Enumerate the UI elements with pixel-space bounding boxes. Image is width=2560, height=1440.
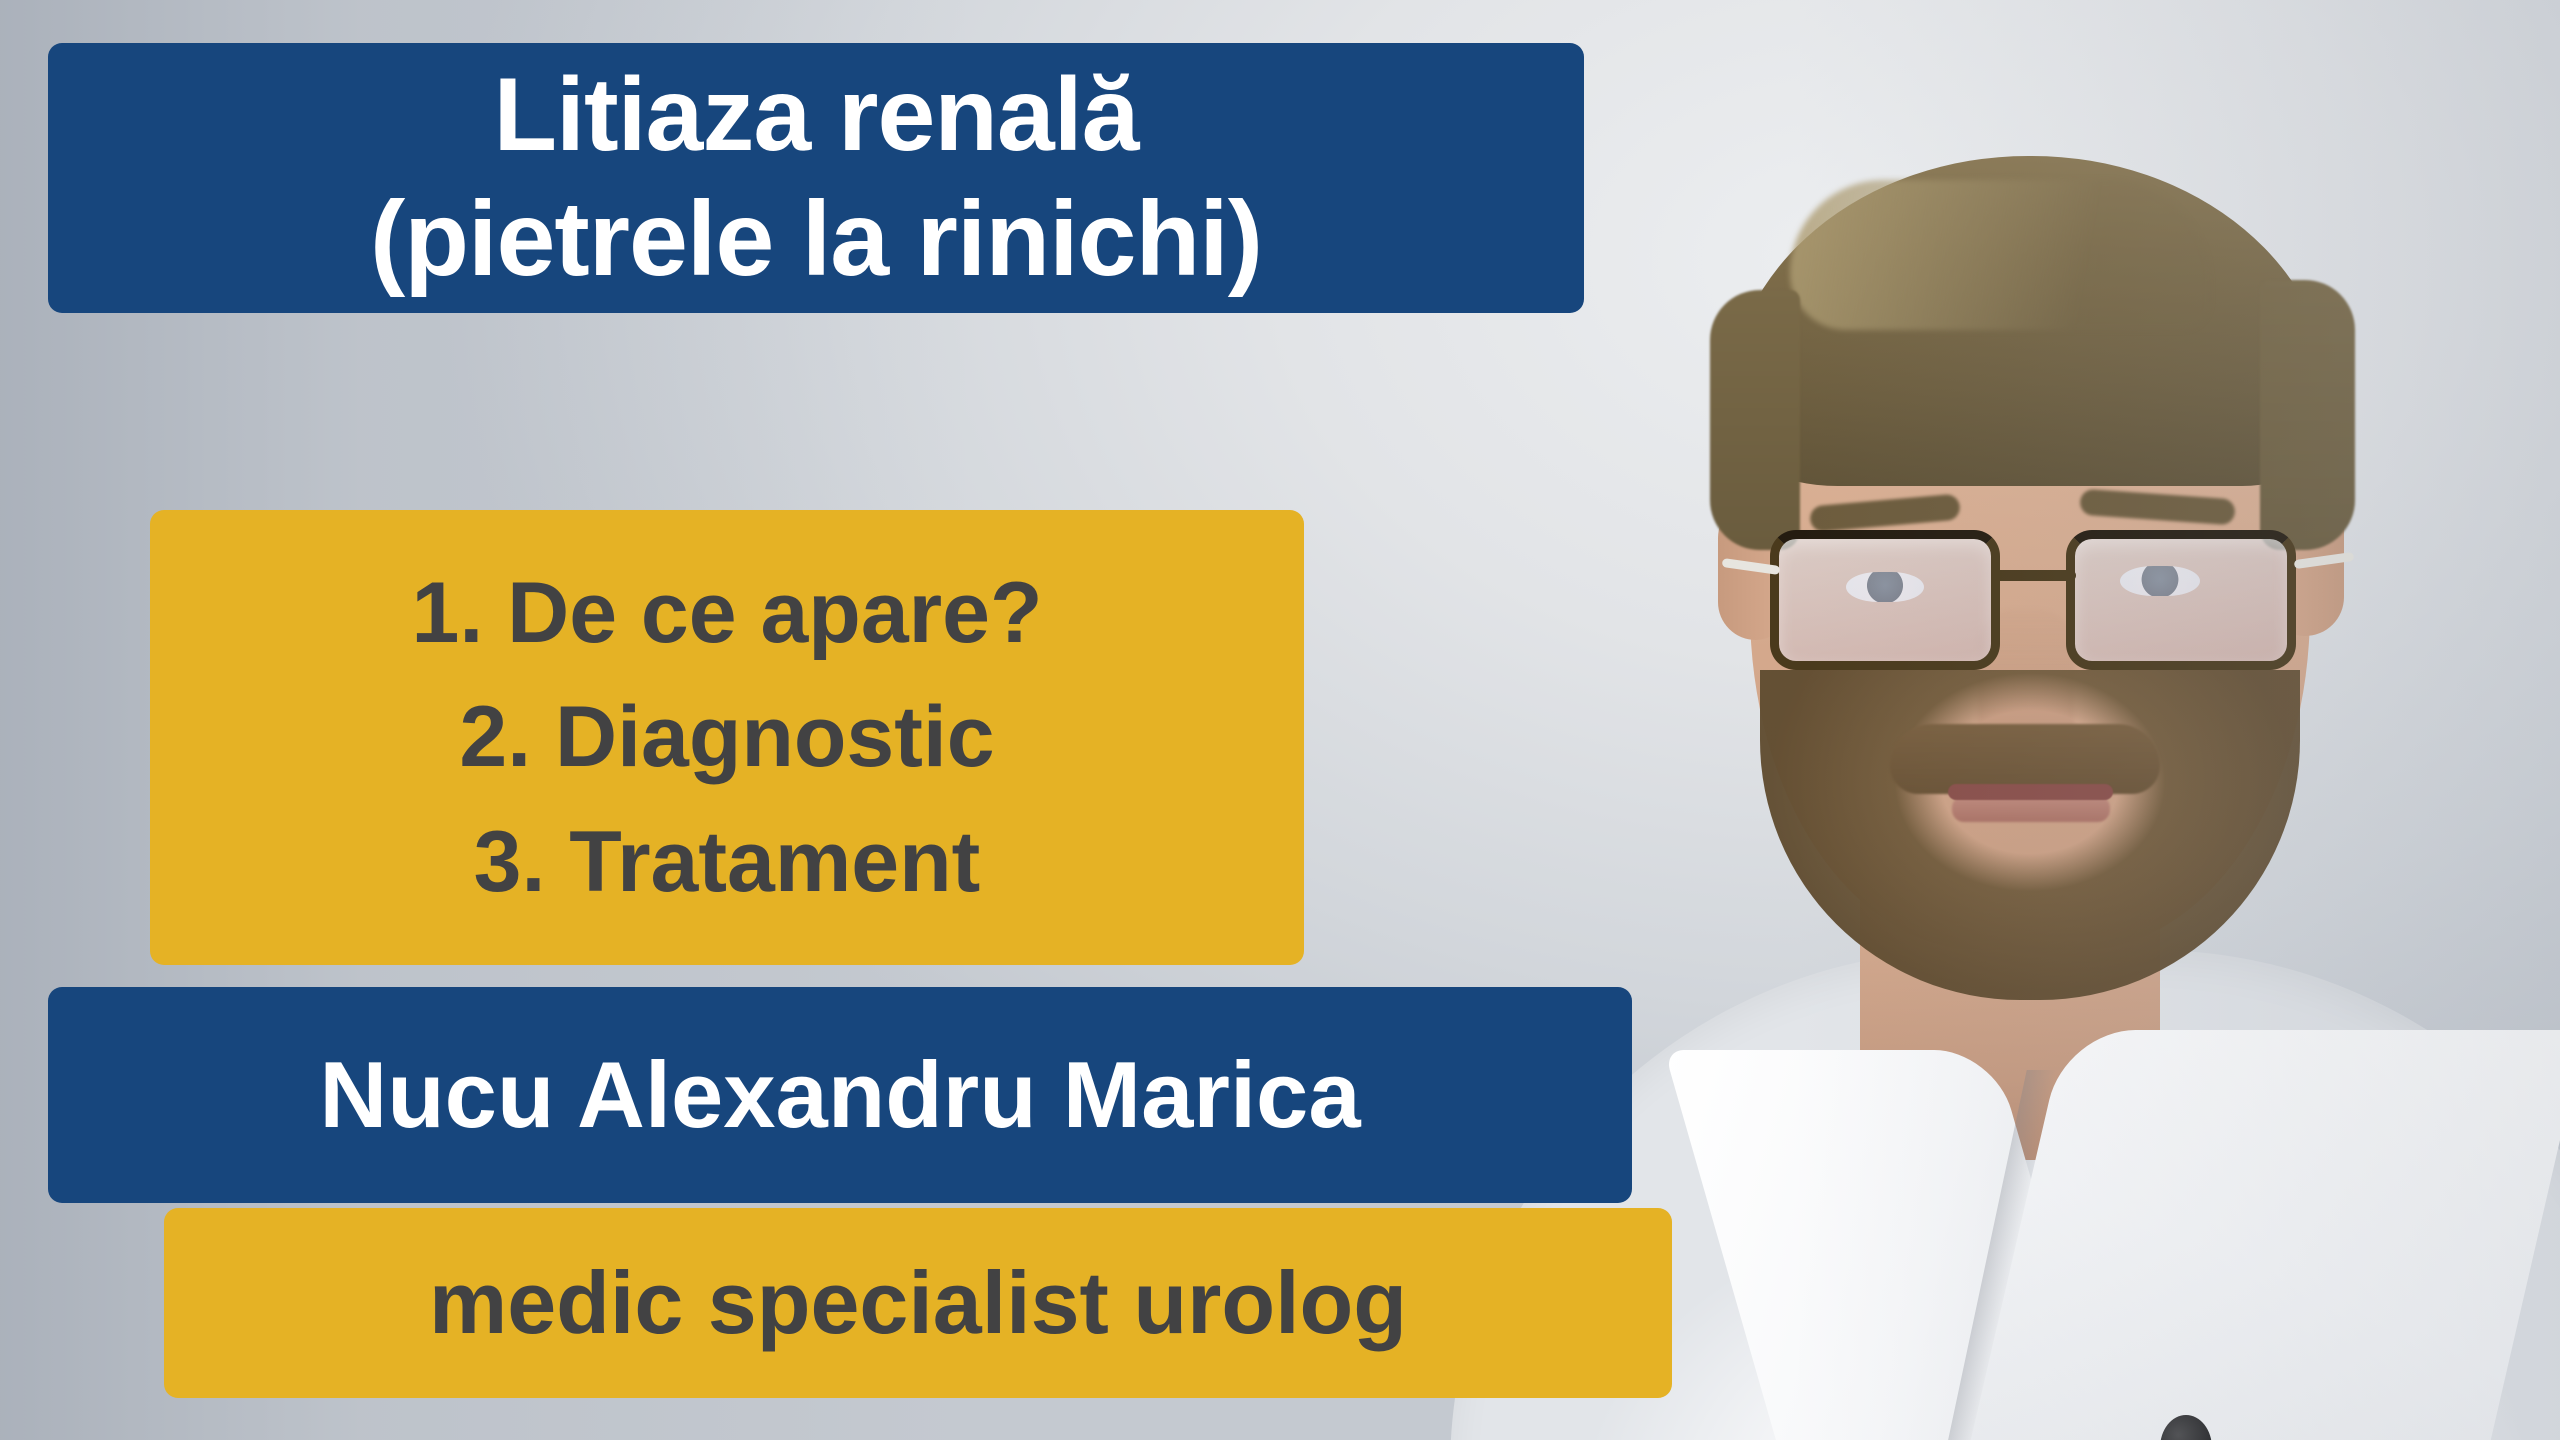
presenter-name: Nucu Alexandru Marica (72, 1048, 1608, 1142)
topic-item-2: 2. Diagnostic (150, 676, 1304, 798)
title-card: Litiaza renală (pietrele la rinichi) (48, 43, 1584, 313)
topic-item-3: 3. Tratament (150, 801, 1304, 923)
presenter-name-card: Nucu Alexandru Marica (48, 987, 1632, 1203)
topics-card: 1. De ce apare? 2. Diagnostic 3. Tratame… (150, 510, 1304, 965)
title-line-1: Litiaza renală (76, 54, 1556, 177)
presenter-role: medic specialist urolog (188, 1259, 1648, 1347)
presenter-role-card: medic specialist urolog (164, 1208, 1672, 1398)
title-line-2: (pietrele la rinichi) (76, 177, 1556, 302)
topic-item-1: 1. De ce apare? (150, 552, 1304, 674)
